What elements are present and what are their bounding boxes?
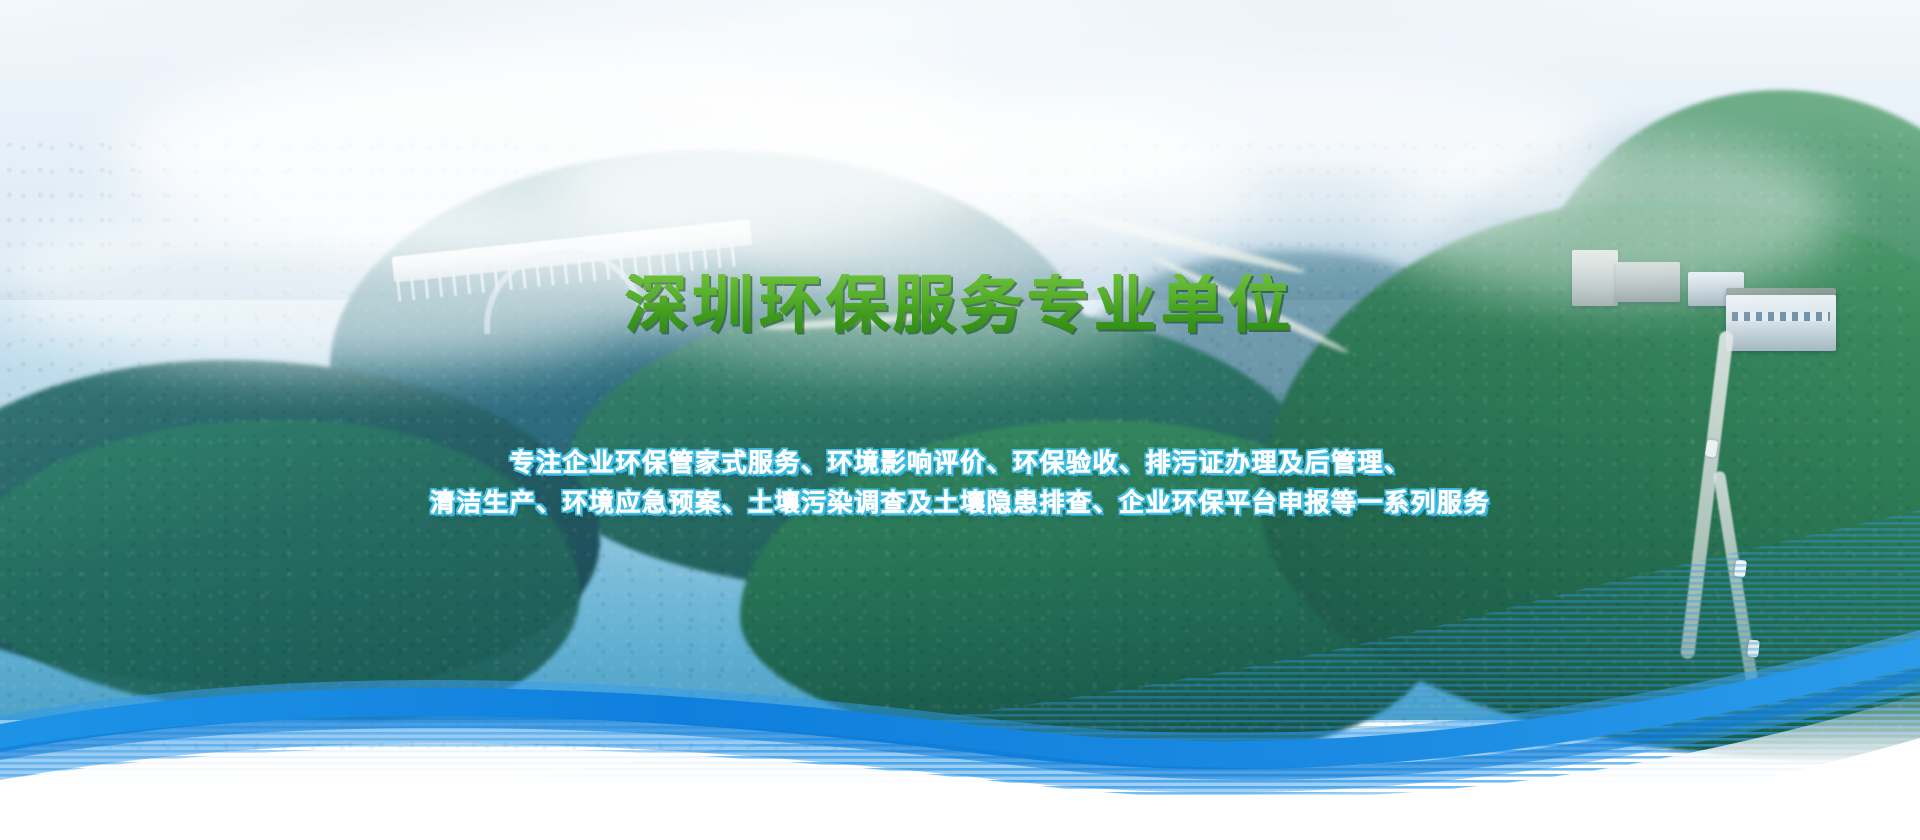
mist-band	[640, 250, 1160, 370]
mist-band	[1380, 130, 1840, 300]
white-building	[1726, 295, 1836, 351]
building-windows	[1732, 312, 1830, 321]
background-photo	[0, 0, 1920, 840]
car	[1747, 639, 1760, 657]
hero-banner: 深圳环保服务专业单位 深圳环保服务专业单位 专注企业环保管家式服务、环境影响评价…	[0, 0, 1920, 840]
mist-band	[0, 200, 700, 370]
car	[1734, 559, 1747, 577]
